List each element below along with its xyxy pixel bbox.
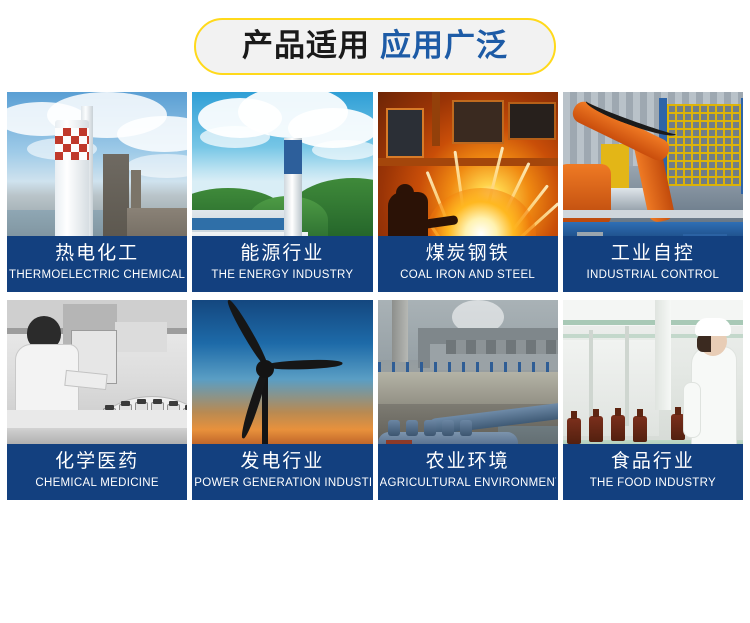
tile-caption-en: INDUSTRIAL CONTROL xyxy=(565,267,741,284)
bottling-line-worker-photo xyxy=(563,300,743,444)
page-header: 产品适用 应用广泛 xyxy=(0,0,750,92)
tile-caption-en: THE ENERGY INDUSTRY xyxy=(194,267,370,284)
tile-caption-zh: 工业自控 xyxy=(565,242,741,267)
tile-food-industry[interactable]: 食品行业 THE FOOD INDUSTRY xyxy=(563,300,743,500)
pharmaceutical-lab-vials-photo xyxy=(7,300,187,444)
tile-agricultural-environment[interactable]: 农业环境 AGRICULTURAL ENVIRONMENT xyxy=(378,300,558,500)
tile-thermoelectric-chemical[interactable]: 热电化工 THERMOELECTRIC CHEMICAL xyxy=(7,92,187,292)
wind-turbine-sunset-photo xyxy=(192,300,372,444)
tile-caption: 能源行业 THE ENERGY INDUSTRY xyxy=(192,236,372,292)
tile-caption-en: POWER GENERATION INDUSTRY xyxy=(194,475,370,492)
tile-caption-zh: 食品行业 xyxy=(565,450,741,475)
tile-caption-zh: 热电化工 xyxy=(9,242,185,267)
energy-plant-waterfront-photo xyxy=(192,92,372,236)
tile-caption: 热电化工 THERMOELECTRIC CHEMICAL xyxy=(7,236,187,292)
tile-chemical-medicine[interactable]: 化学医药 CHEMICAL MEDICINE xyxy=(7,300,187,500)
tile-caption: 发电行业 POWER GENERATION INDUSTRY xyxy=(192,444,372,500)
molten-steel-sparks-photo xyxy=(378,92,558,236)
tile-caption-zh: 煤炭钢铁 xyxy=(380,242,556,267)
tile-caption-zh: 农业环境 xyxy=(380,450,556,475)
tile-caption-zh: 化学医药 xyxy=(9,450,185,475)
tile-caption: 化学医药 CHEMICAL MEDICINE xyxy=(7,444,187,500)
tile-caption-zh: 发电行业 xyxy=(194,450,370,475)
title-pill: 产品适用 应用广泛 xyxy=(194,18,556,75)
tile-coal-iron-steel[interactable]: 煤炭钢铁 COAL IRON AND STEEL xyxy=(378,92,558,292)
tile-caption-zh: 能源行业 xyxy=(194,242,370,267)
page-title-primary: 产品适用 xyxy=(242,30,370,61)
robotic-arm-assembly-line-photo xyxy=(563,92,743,236)
page-title-accent: 应用广泛 xyxy=(380,30,508,61)
tile-caption-en: CHEMICAL MEDICINE xyxy=(9,475,185,492)
tile-power-generation-industry[interactable]: 发电行业 POWER GENERATION INDUSTRY xyxy=(192,300,372,500)
tile-caption-en: COAL IRON AND STEEL xyxy=(380,267,556,284)
tile-caption: 农业环境 AGRICULTURAL ENVIRONMENT xyxy=(378,444,558,500)
tile-energy-industry[interactable]: 能源行业 THE ENERGY INDUSTRY xyxy=(192,92,372,292)
tile-caption-en: THERMOELECTRIC CHEMICAL xyxy=(9,267,185,284)
tile-caption-en: AGRICULTURAL ENVIRONMENT xyxy=(380,475,556,492)
power-plant-cooling-tower-photo xyxy=(7,92,187,236)
tile-industrial-control[interactable]: 工业自控 INDUSTRIAL CONTROL xyxy=(563,92,743,292)
tile-caption-en: THE FOOD INDUSTRY xyxy=(565,475,741,492)
industry-tile-grid: 热电化工 THERMOELECTRIC CHEMICAL 能源行业 THE EN… xyxy=(7,92,743,500)
tile-caption: 食品行业 THE FOOD INDUSTRY xyxy=(563,444,743,500)
tile-caption: 工业自控 INDUSTRIAL CONTROL xyxy=(563,236,743,292)
water-treatment-pipes-photo xyxy=(378,300,558,444)
tile-caption: 煤炭钢铁 COAL IRON AND STEEL xyxy=(378,236,558,292)
